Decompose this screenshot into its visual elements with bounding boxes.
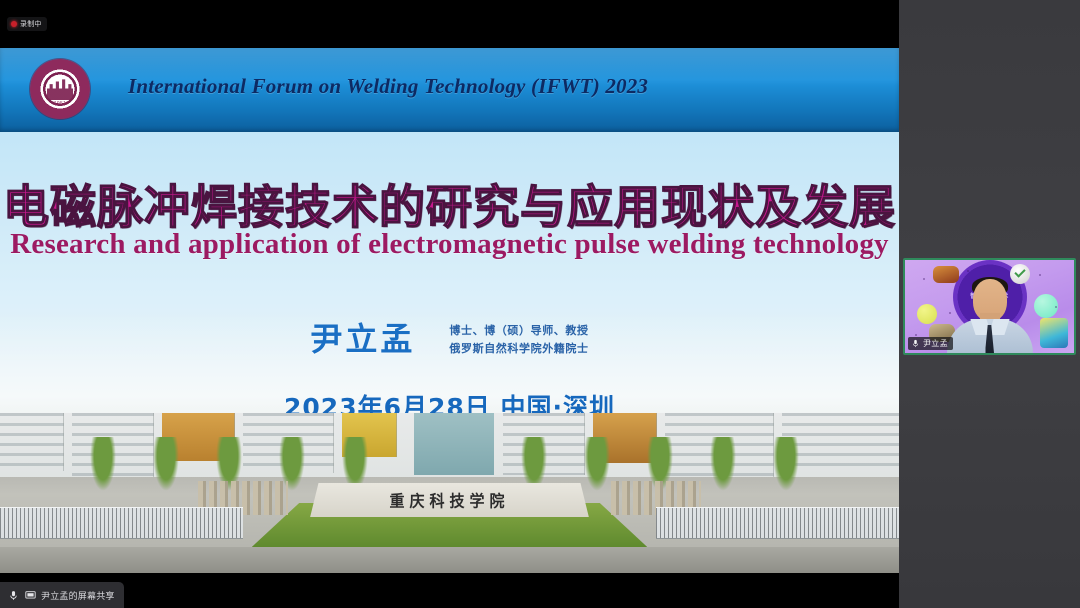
record-dot-icon: [11, 21, 17, 27]
screen-share-label: 尹立孟的屏幕共享: [41, 589, 115, 602]
background-speck: [915, 334, 917, 336]
background-speck: [1039, 274, 1041, 276]
slide-header-band: 1951 International Forum on Welding Tech…: [0, 48, 899, 132]
meeting-window: 录制中 1951 International Forum on Welding …: [0, 0, 1080, 608]
microphone-icon: [911, 339, 920, 348]
forum-title: International Forum on Welding Technolog…: [128, 74, 648, 99]
campus-trees: [0, 421, 899, 491]
tree: [521, 437, 547, 491]
tree: [710, 437, 736, 491]
presenter-block: 尹立孟 博士、博（硕）导师、教授 俄罗斯自然科学院外籍院士: [0, 314, 899, 360]
campus-gate-right: [656, 507, 899, 539]
campus-photo: 重庆科技学院: [0, 413, 899, 573]
background-blob-food-top: [933, 266, 959, 283]
share-letterbox-bottom: [0, 573, 899, 608]
tree: [153, 437, 179, 491]
participant-figure: [947, 283, 1033, 353]
tree: [342, 437, 368, 491]
background-speck: [967, 270, 969, 272]
credential-line-1: 博士、博（硕）导师、教授: [449, 322, 588, 338]
shared-screen-viewport[interactable]: 录制中 1951 International Forum on Welding …: [0, 0, 899, 608]
background-blob-yellow: [917, 304, 937, 324]
presenter-credentials: 博士、博（硕）导师、教授 俄罗斯自然科学院外籍院士: [449, 318, 588, 356]
tree: [773, 437, 799, 491]
participant-name-tag: 尹立孟: [908, 337, 953, 350]
microphone-icon[interactable]: [7, 589, 19, 601]
presenter-name: 尹立孟: [310, 314, 415, 360]
background-check-icon: [1010, 264, 1030, 284]
campus-gate-left: [0, 507, 243, 539]
seal-year-label: 1951: [30, 101, 90, 107]
recording-label: 录制中: [20, 21, 42, 28]
background-speck: [1055, 306, 1057, 308]
seal-building-glyph: [47, 78, 73, 100]
screen-share-icon[interactable]: [24, 589, 36, 601]
background-speck: [923, 278, 925, 280]
screen-share-toolbar[interactable]: 尹立孟的屏幕共享: [0, 582, 124, 608]
background-blob-package: [1040, 318, 1068, 348]
tree: [584, 437, 610, 491]
slide-title-english: Research and application of electromagne…: [0, 228, 899, 261]
campus-sign-wall: 重庆科技学院: [310, 483, 589, 517]
presentation-slide: 1951 International Forum on Welding Tech…: [0, 48, 899, 573]
recording-badge: 录制中: [7, 17, 47, 31]
tree: [90, 437, 116, 491]
campus-foreground-pavement: [0, 547, 899, 573]
university-seal-icon: 1951: [30, 59, 90, 119]
participant-video-tile[interactable]: IFWT 2023 智能焊接技术: [903, 258, 1076, 355]
credential-line-2: 俄罗斯自然科学院外籍院士: [449, 340, 588, 356]
campus-sign-text: 重庆科技学院: [389, 489, 509, 511]
participant-name-label: 尹立孟: [923, 338, 948, 349]
